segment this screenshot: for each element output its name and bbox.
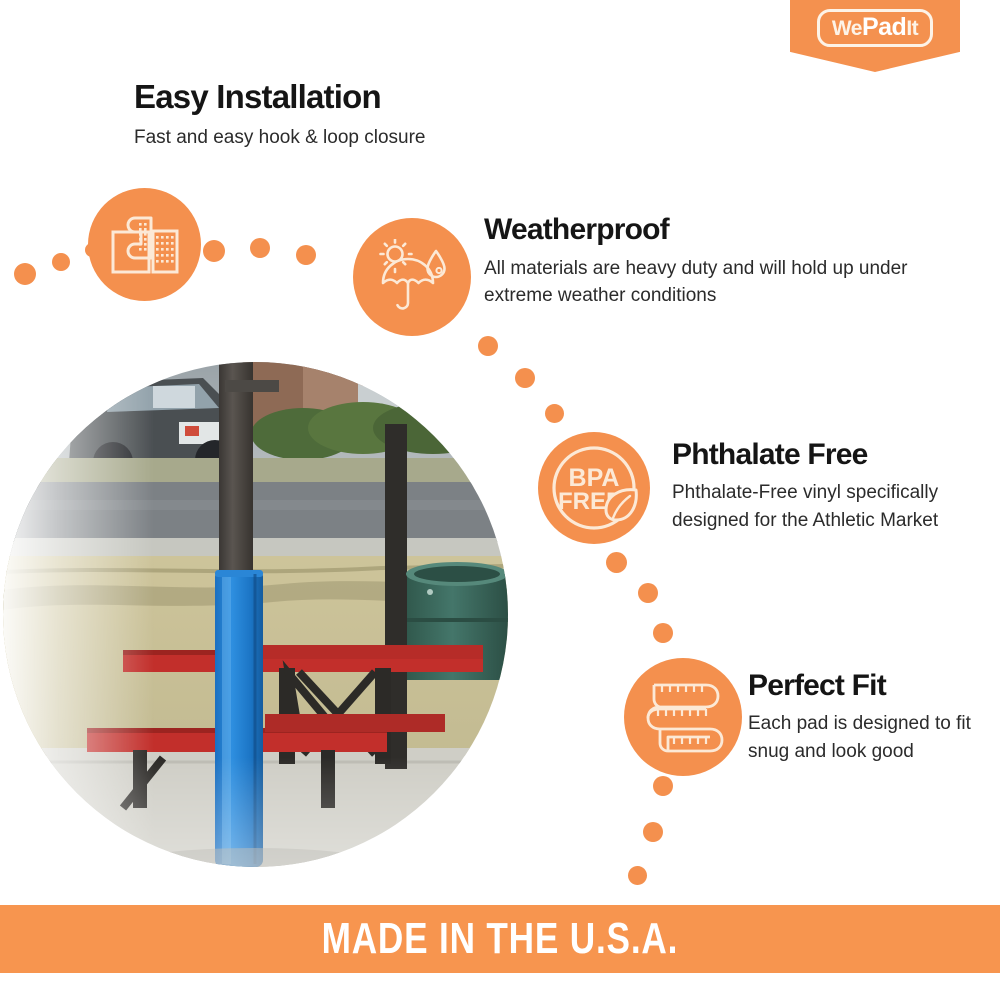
trail-dot — [515, 368, 535, 388]
trail-dot — [653, 776, 673, 796]
trail-dot — [14, 263, 36, 285]
trail-dot — [203, 240, 225, 262]
trail-dot — [643, 822, 663, 842]
trail-dot — [628, 866, 647, 885]
made-in-usa-label: MADE IN THE U.S.A. — [322, 914, 679, 964]
brand-logo-badge[interactable]: We Pad It — [790, 0, 960, 72]
trail-dot — [250, 238, 270, 258]
feature-body-perfect-fit: Each pad is designed to fit snug and loo… — [748, 710, 988, 766]
umbrella-sun-raindrop-icon — [353, 218, 471, 336]
measuring-tape-icon — [624, 658, 742, 776]
product-photo-pole-pad — [3, 362, 508, 867]
feature-block-easy-installation: Easy Installation Fast and easy hook & l… — [134, 78, 554, 151]
bpa-free-leaf-icon: BPA FREE — [538, 432, 650, 544]
feature-title-phthalate-free: Phthalate Free — [672, 437, 972, 473]
feature-block-perfect-fit: Perfect Fit Each pad is designed to fit … — [748, 668, 988, 766]
feature-body-phthalate-free: Phthalate-Free vinyl specifically design… — [672, 479, 972, 535]
feature-title-weatherproof: Weatherproof — [484, 212, 914, 248]
feature-block-weatherproof: Weatherproof All materials are heavy dut… — [484, 212, 914, 309]
feature-title-perfect-fit: Perfect Fit — [748, 668, 988, 704]
infographic-canvas: We Pad It Easy Installation Fast and eas… — [0, 0, 1000, 987]
brand-logo-pad: Pad — [862, 15, 906, 40]
feature-title-easy-installation: Easy Installation — [134, 78, 554, 116]
trail-dot — [296, 245, 316, 265]
feature-body-weatherproof: All materials are heavy duty and will ho… — [484, 255, 914, 309]
trail-dot — [478, 336, 498, 356]
trail-dot — [653, 623, 673, 643]
photo-illustration — [3, 362, 508, 867]
brand-logo-we: We — [832, 18, 862, 39]
made-in-usa-banner: MADE IN THE U.S.A. — [0, 905, 1000, 973]
brand-logo-frame: We Pad It — [817, 9, 933, 47]
trail-dot — [545, 404, 564, 423]
hook-and-loop-pad-icon — [88, 188, 201, 301]
brand-logo-it: It — [906, 18, 918, 39]
feature-block-phthalate-free: Phthalate Free Phthalate-Free vinyl spec… — [672, 437, 972, 535]
trail-dot — [638, 583, 658, 603]
feature-body-easy-installation: Fast and easy hook & loop closure — [134, 125, 554, 151]
trail-dot — [52, 253, 70, 271]
trail-dot — [606, 552, 627, 573]
